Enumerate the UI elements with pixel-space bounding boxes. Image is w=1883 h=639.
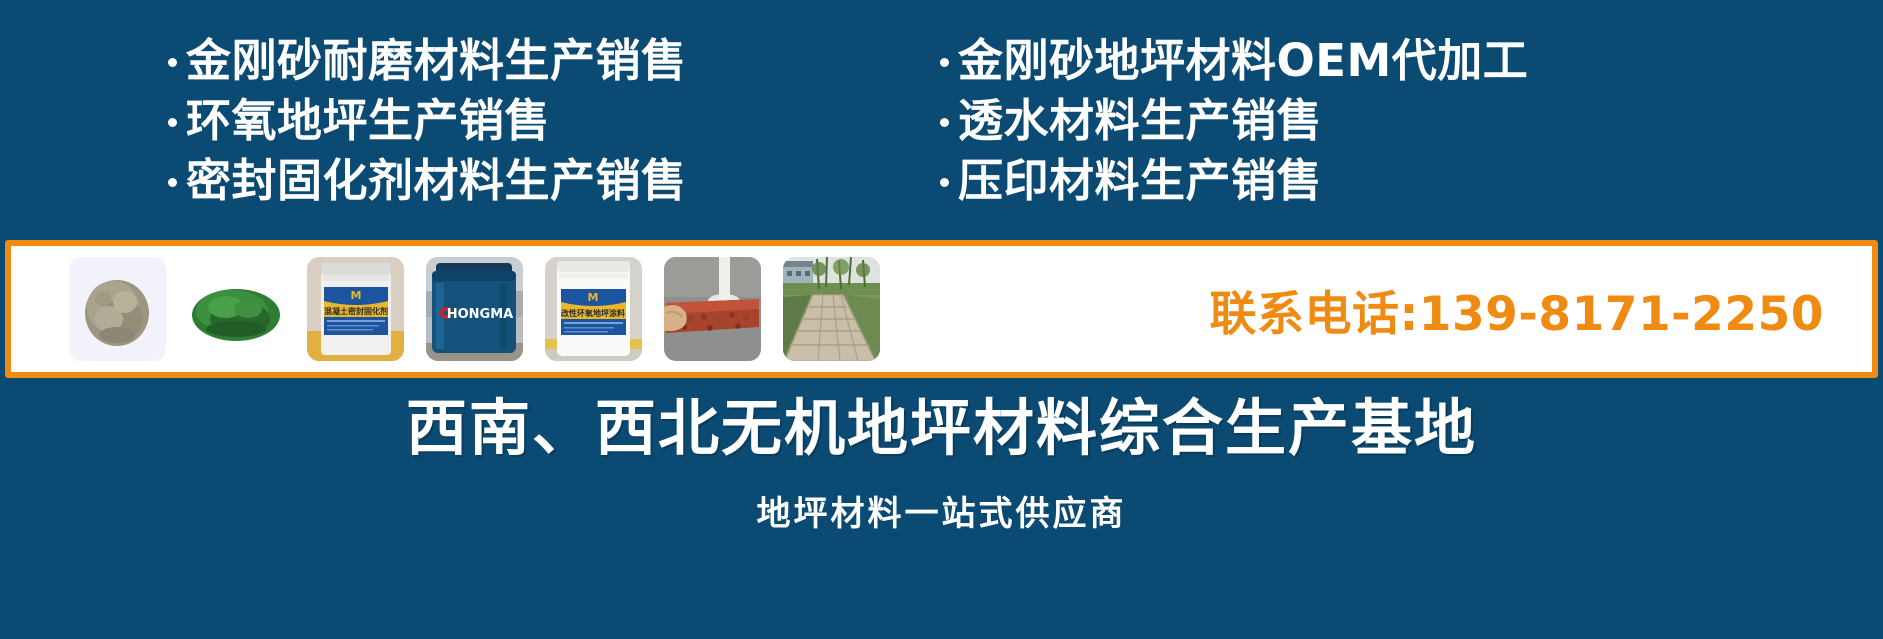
contact-phone[interactable]: 联系电话:139-8171-2250 (1209, 275, 1824, 344)
product-thumbnail-white-bucket-epoxy-coating: M 改性环氧地坪涂料 (545, 257, 642, 361)
product-thumbnail-stamped-concrete-walkway (783, 257, 880, 361)
green-powder-image (188, 257, 285, 361)
stamped-walkway-image (783, 257, 880, 361)
services-left-column: 金刚砂耐磨材料生产销售 环氧地坪生产销售 密封固化剂材料生产销售 (0, 30, 880, 230)
svg-text:HONGMA: HONGMA (447, 307, 513, 322)
product-thumbnail-gray-wear-resistant-powder (69, 257, 166, 361)
services-list: 金刚砂耐磨材料生产销售 环氧地坪生产销售 密封固化剂材料生产销售 金刚砂地坪材料… (0, 30, 1883, 230)
bullet-dot-icon (168, 58, 177, 67)
service-item: 金刚砂地坪材料OEM代加工 (940, 30, 1883, 90)
services-right-column: 金刚砂地坪材料OEM代加工 透水材料生产销售 压印材料生产销售 (880, 30, 1883, 230)
product-thumbnail-list: M 混凝土密封固化剂 (69, 257, 880, 361)
product-thumbnail-red-permeable-concrete-slab (664, 257, 761, 361)
product-strip: M 混凝土密封固化剂 (5, 240, 1878, 378)
product-thumbnail-blue-barrel-hongma: HONGMA (426, 257, 523, 361)
bullet-dot-icon (168, 118, 177, 127)
hongma-barrel-image: HONGMA (426, 257, 523, 361)
service-item: 压印材料生产销售 (940, 150, 1883, 210)
bullet-dot-icon (168, 178, 177, 187)
bullet-dot-icon (940, 58, 949, 67)
advertisement-banner: 金刚砂耐磨材料生产销售 环氧地坪生产销售 密封固化剂材料生产销售 金刚砂地坪材料… (0, 0, 1883, 639)
permeable-concrete-image (664, 257, 761, 361)
bullet-dot-icon (940, 118, 949, 127)
product-thumbnail-yellow-blue-bucket-sealer: M 混凝土密封固化剂 (307, 257, 404, 361)
gray-powder-image (69, 257, 166, 361)
service-label: 密封固化剂材料生产销售 (186, 158, 687, 203)
service-label: 金刚砂地坪材料OEM代加工 (958, 38, 1528, 83)
epoxy-coating-bucket-image: M 改性环氧地坪涂料 (545, 257, 642, 361)
sealer-bucket-image: M 混凝土密封固化剂 (307, 257, 404, 361)
service-item: 环氧地坪生产销售 (168, 90, 880, 150)
service-item: 透水材料生产销售 (940, 90, 1883, 150)
service-label: 环氧地坪生产销售 (186, 98, 550, 143)
service-item: 密封固化剂材料生产销售 (168, 150, 880, 210)
service-label: 金刚砂耐磨材料生产销售 (186, 38, 687, 83)
service-label: 压印材料生产销售 (958, 158, 1322, 203)
footer-headline: 西南、西北无机地坪材料综合生产基地 (406, 394, 1477, 464)
footer-subline: 地坪材料一站式供应商 (757, 486, 1127, 535)
svg-text:改性环氧地坪涂料: 改性环氧地坪涂料 (561, 308, 625, 318)
svg-text:M: M (351, 289, 362, 302)
svg-text:M: M (588, 291, 599, 304)
service-item: 金刚砂耐磨材料生产销售 (168, 30, 880, 90)
svg-text:混凝土密封固化剂: 混凝土密封固化剂 (324, 306, 388, 316)
footer-block: 西南、西北无机地坪材料综合生产基地 地坪材料一站式供应商 (0, 382, 1883, 639)
bullet-dot-icon (940, 178, 949, 187)
service-label: 透水材料生产销售 (958, 98, 1322, 143)
product-thumbnail-green-wear-resistant-powder (188, 257, 285, 361)
